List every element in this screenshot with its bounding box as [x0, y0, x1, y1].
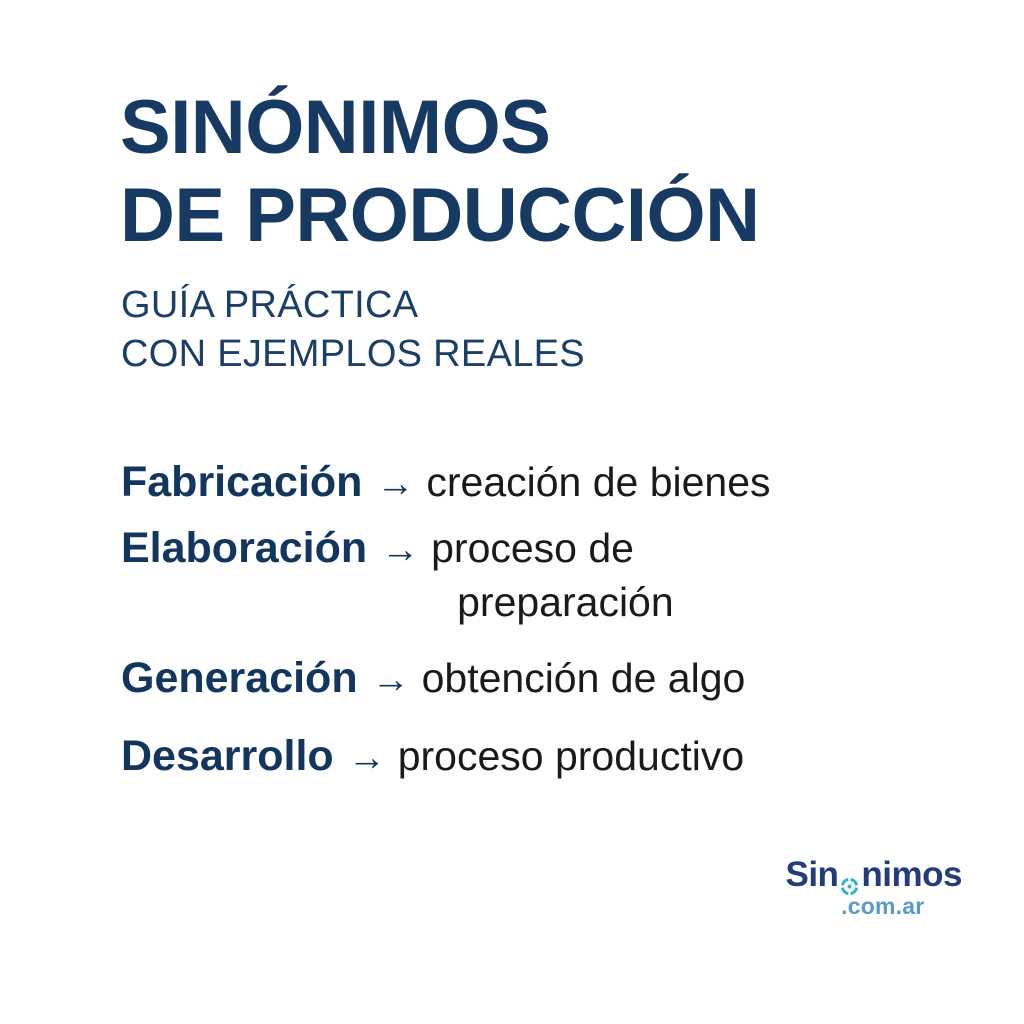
subtitle-block: GUÍA PRÁCTICA CON EJEMPLOS REALES	[121, 281, 821, 379]
definition-text: obtención de algo	[422, 655, 746, 701]
site-logo[interactable]: Sin nimos .com.ar	[785, 856, 962, 918]
arrow-right-icon: →	[362, 457, 426, 511]
subtitle-line-2: CON EJEMPLOS REALES	[121, 330, 821, 379]
synonym-definition: creación de bienes	[426, 455, 921, 509]
synonym-definition: obtención de algo	[422, 651, 921, 705]
list-item: Elaboración → proceso de preparación	[121, 521, 921, 629]
list-item: Desarrollo → proceso productivo	[121, 729, 921, 785]
page-title-line-2: DE PRODUCCIÓN	[120, 172, 950, 260]
synonyms-infographic-card: SINÓNIMOS DE PRODUCCIÓN GUÍA PRÁCTICA CO…	[0, 0, 1024, 1024]
synonym-term: Fabricación	[121, 455, 362, 509]
synonym-term: Desarrollo	[121, 729, 334, 783]
arrow-right-icon: →	[367, 523, 431, 577]
logo-word-part-1: Sin	[785, 856, 838, 894]
title-block: SINÓNIMOS DE PRODUCCIÓN	[120, 84, 950, 260]
definition-text: proceso productivo	[398, 733, 744, 779]
synonym-list: Fabricación → creación de bienes Elabora…	[121, 455, 921, 795]
circular-gear-icon	[839, 867, 860, 888]
subtitle-line-1: GUÍA PRÁCTICA	[121, 281, 821, 330]
logo-wordmark: Sin nimos	[785, 856, 962, 894]
logo-word-part-2: nimos	[861, 856, 962, 894]
synonym-definition: proceso productivo	[398, 729, 921, 783]
logo-domain-text: .com.ar	[803, 895, 962, 918]
synonym-definition: proceso de preparación	[431, 521, 921, 629]
definition-text-wrapped: preparación	[431, 575, 921, 629]
arrow-right-icon: →	[358, 653, 422, 707]
list-item: Generación → obtención de algo	[121, 651, 921, 707]
arrow-right-icon: →	[334, 731, 398, 785]
page-title-line-1: SINÓNIMOS	[120, 84, 950, 172]
synonym-term: Generación	[121, 651, 358, 705]
definition-text: proceso de	[431, 525, 634, 571]
list-item: Fabricación → creación de bienes	[121, 455, 921, 511]
definition-text: creación de bienes	[426, 459, 770, 505]
synonym-term: Elaboración	[121, 521, 367, 575]
